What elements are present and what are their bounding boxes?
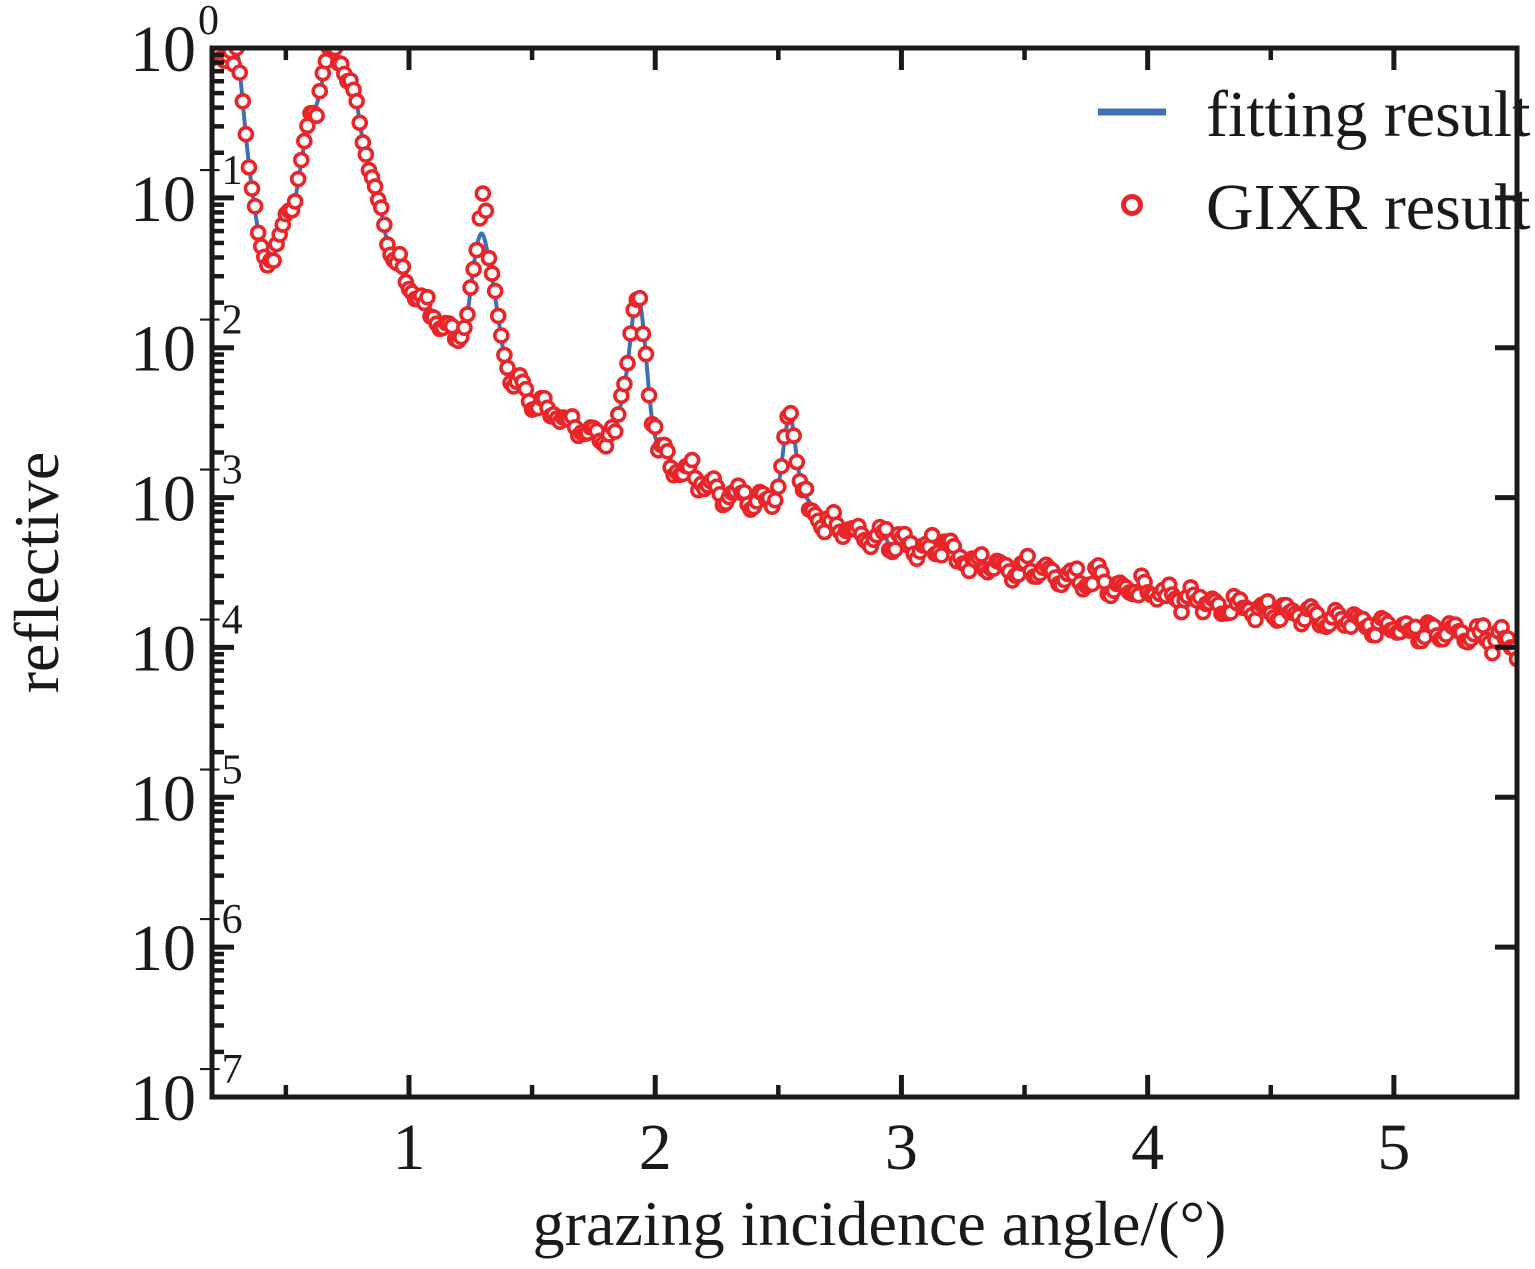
gixr-data-point xyxy=(618,378,631,391)
gixr-data-point xyxy=(1021,550,1034,563)
gixr-data-point xyxy=(467,263,480,276)
gixr-data-point xyxy=(935,549,948,562)
legend-label-fitting-result: fitting result xyxy=(1206,78,1530,151)
gixr-data-point xyxy=(643,389,656,402)
svg-text:10: 10 xyxy=(130,463,196,536)
gixr-data-point xyxy=(775,460,788,473)
x-tick-label: 3 xyxy=(885,1111,918,1184)
svg-text:10: 10 xyxy=(130,912,196,985)
gixr-data-point xyxy=(784,407,797,420)
gixr-data-point xyxy=(1477,619,1490,632)
gixr-data-point xyxy=(649,420,662,433)
gixr-data-point xyxy=(267,254,280,267)
gixr-data-point xyxy=(252,226,265,239)
svg-text:10: 10 xyxy=(130,1062,196,1135)
svg-text:−2: −2 xyxy=(198,298,243,344)
svg-text:−4: −4 xyxy=(198,597,243,643)
x-tick-label: 5 xyxy=(1377,1111,1410,1184)
gixr-data-point xyxy=(313,85,326,98)
x-tick-label: 2 xyxy=(639,1111,672,1184)
gixr-data-point xyxy=(310,109,323,122)
gixr-data-point xyxy=(633,292,646,305)
gixr-data-point xyxy=(421,291,434,304)
reflectivity-chart: 10010−110−210−310−410−510−610−712345graz… xyxy=(0,0,1535,1269)
gixr-data-point xyxy=(353,116,366,129)
gixr-data-point xyxy=(483,252,496,265)
y-axis-title: reflective xyxy=(1,452,72,694)
gixr-data-point xyxy=(249,200,262,213)
gixr-data-point xyxy=(396,260,409,273)
svg-text:−6: −6 xyxy=(198,897,243,943)
gixr-data-point xyxy=(295,154,308,167)
gixr-data-point xyxy=(298,135,311,148)
gixr-data-point xyxy=(787,429,800,442)
gixr-data-point xyxy=(464,281,477,294)
gixr-data-point xyxy=(686,454,699,467)
gixr-data-point xyxy=(233,66,246,79)
gixr-data-point xyxy=(239,128,252,141)
svg-text:10: 10 xyxy=(130,313,196,386)
svg-text:10: 10 xyxy=(130,13,196,86)
svg-text:10: 10 xyxy=(130,163,196,236)
gixr-data-point xyxy=(461,308,474,321)
svg-text:−3: −3 xyxy=(198,448,243,494)
svg-text:0: 0 xyxy=(198,0,219,44)
x-tick-label: 1 xyxy=(392,1111,425,1184)
svg-text:−1: −1 xyxy=(198,148,243,194)
gixr-data-point xyxy=(242,161,255,174)
gixr-data-point xyxy=(609,425,622,438)
gixr-data-point xyxy=(800,482,813,495)
gixr-data-point xyxy=(498,348,511,361)
gixr-data-point xyxy=(486,267,499,280)
gixr-data-point xyxy=(359,148,372,161)
gixr-data-point xyxy=(470,244,483,257)
gixr-data-point xyxy=(621,357,634,370)
gixr-data-point xyxy=(636,327,649,340)
legend-swatch-gixr-marker xyxy=(1124,197,1141,214)
gixr-data-point xyxy=(375,201,388,214)
gixr-data-point xyxy=(639,348,652,361)
gixr-data-point xyxy=(1070,562,1083,575)
chart-figure: 10010−110−210−310−410−510−610−712345graz… xyxy=(0,0,1535,1269)
gixr-data-point xyxy=(769,494,782,507)
gixr-data-point xyxy=(476,187,489,200)
gixr-data-point xyxy=(790,456,803,469)
gixr-data-point xyxy=(292,173,305,186)
gixr-data-point xyxy=(350,95,363,108)
gixr-data-point xyxy=(369,180,382,193)
gixr-data-point xyxy=(772,480,785,493)
svg-text:10: 10 xyxy=(130,762,196,835)
gixr-data-point xyxy=(236,95,249,108)
svg-text:−7: −7 xyxy=(198,1047,243,1093)
svg-text:10: 10 xyxy=(130,612,196,685)
gixr-data-point xyxy=(246,182,259,195)
svg-text:−5: −5 xyxy=(198,747,243,793)
gixr-data-point xyxy=(489,285,502,298)
legend-label-gixr-result: GIXR result xyxy=(1206,171,1530,244)
gixr-data-point xyxy=(661,445,674,458)
gixr-data-point xyxy=(458,321,471,334)
gixr-data-point xyxy=(975,548,988,561)
gixr-data-point xyxy=(612,408,625,421)
x-axis-title: grazing incidence angle/(°) xyxy=(533,1188,1227,1259)
gixr-data-point xyxy=(289,195,302,208)
x-tick-label: 4 xyxy=(1131,1111,1164,1184)
gixr-data-point xyxy=(378,218,391,231)
gixr-data-point xyxy=(479,204,492,217)
gixr-data-point xyxy=(492,309,505,322)
gixr-data-point xyxy=(495,329,508,342)
